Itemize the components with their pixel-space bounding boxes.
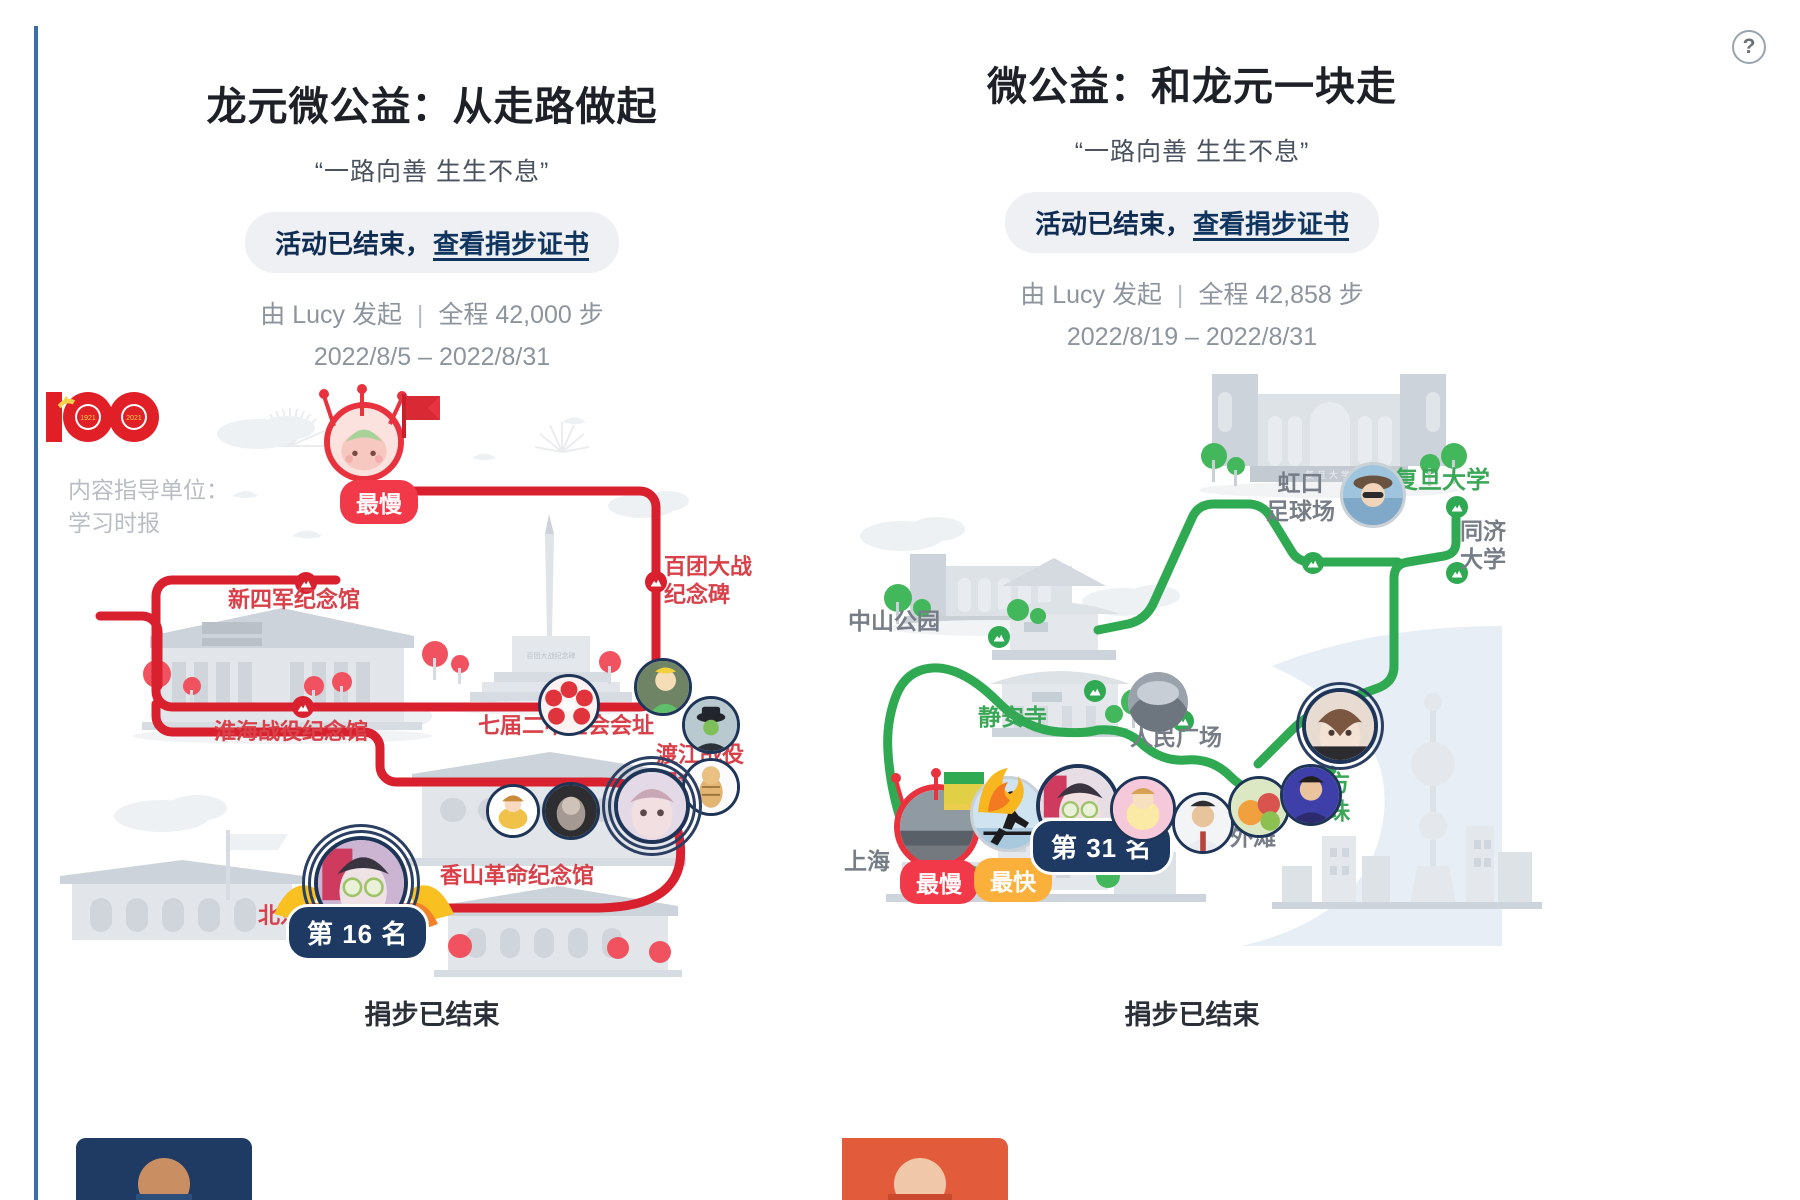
rank-badge: 第 16 名 <box>286 904 429 961</box>
avatar-fudan-participant[interactable] <box>1340 462 1406 528</box>
pearl-avatar-ring <box>1296 682 1384 770</box>
help-circle-icon[interactable]: ? <box>1732 30 1766 64</box>
page-subtitle-right: “一路向善 生生不息” <box>842 132 1542 168</box>
footer-note-right: 捐步已结束 <box>842 993 1542 1032</box>
left-accent-rail <box>34 26 38 1200</box>
avatar-participant-r1[interactable] <box>1110 776 1176 842</box>
svg-text:1921: 1921 <box>80 415 96 422</box>
avatar-participant-1[interactable] <box>634 658 692 716</box>
distance-text: 全程 42,000 步 <box>438 301 603 329</box>
route-map-left[interactable]: 百团大战纪念碑 <box>42 386 822 986</box>
footer-thumbnail-left[interactable] <box>76 1138 252 1200</box>
status-text-right: 活动已结束， <box>1035 204 1191 241</box>
avatar-renmin-participant[interactable] <box>1128 672 1188 732</box>
landmark-label-huaihai: 淮海战役纪念馆 <box>214 714 368 746</box>
campaign-dates: 2022/8/5 – 2022/8/31 <box>42 343 822 372</box>
route-node-jingansi[interactable] <box>1084 680 1106 702</box>
page-subtitle: “一路向善 生生不息” <box>42 152 822 188</box>
avatar-participant-2[interactable] <box>682 696 740 754</box>
landmark-label-hongkou: 虹口足球场 <box>1266 470 1335 526</box>
route-node-zhongshan-park[interactable] <box>988 626 1010 648</box>
guidance-line-1: 内容指导单位： <box>68 474 229 507</box>
page-title-right: 微公益：和龙元一块走 <box>842 54 1542 112</box>
cpc-100th-anniversary-logo: 1921 2021 <box>42 386 162 448</box>
avatar-participant-4[interactable] <box>486 784 540 838</box>
campaign-meta: 由 Lucy 发起 | 全程 42,000 步 <box>42 295 822 331</box>
campaign-meta-right: 由 Lucy 发起 | 全程 42,858 步 <box>842 275 1542 311</box>
distance-text-right: 全程 42,858 步 <box>1198 281 1363 309</box>
flower-icon <box>541 677 597 733</box>
avatar-participant-r4[interactable] <box>1280 764 1342 826</box>
card-separator <box>826 26 836 1200</box>
landmark-label-fudan: 复旦大学 <box>1394 460 1490 495</box>
landmark-label-zhongshan-park: 中山公园 <box>848 602 940 636</box>
content-guidance-unit: 内容指导单位： 学习时报 <box>68 474 229 541</box>
guidance-line-2: 学习时报 <box>68 507 229 540</box>
campaign-card-left: 龙元微公益：从走路做起 “一路向善 生生不息” 活动已结束， 查看捐步证书 由 … <box>42 26 822 1200</box>
meta-separator-right: | <box>1177 281 1184 309</box>
footer-note-left: 捐步已结束 <box>42 993 822 1032</box>
view-certificate-link-right[interactable]: 查看捐步证书 <box>1193 204 1349 241</box>
window-top-strip <box>0 0 1800 26</box>
campaign-dates-right: 2022/8/19 – 2022/8/31 <box>842 323 1542 352</box>
slowest-crown-flag-decoration <box>312 384 442 454</box>
tag-slowest: 最慢 <box>340 480 418 524</box>
svg-text:2021: 2021 <box>126 415 142 422</box>
landmark-label-xinsijun: 新四军纪念馆 <box>228 582 360 614</box>
status-row-right: 活动已结束， 查看捐步证书 <box>842 192 1542 253</box>
emblem-flower-node[interactable] <box>538 674 600 736</box>
meta-separator: | <box>417 301 424 329</box>
status-row: 活动已结束， 查看捐步证书 <box>42 212 822 273</box>
status-badge: 活动已结束， 查看捐步证书 <box>245 212 619 273</box>
campaign-card-right: 微公益：和龙元一块走 “一路向善 生生不息” 活动已结束， 查看捐步证书 由 L… <box>842 26 1542 1200</box>
initiator-text: 由 Lucy 发起 <box>260 301 402 329</box>
route-map-right[interactable]: 复旦大学 <box>842 366 1542 966</box>
app-page: ? 龙元微公益：从走路做起 “一路向善 生生不息” 活动已结束， 查看捐步证书 … <box>0 0 1800 1200</box>
page-title: 龙元微公益：从走路做起 <box>42 74 822 132</box>
window-right-strip <box>1784 0 1800 1200</box>
route-node-hongkou[interactable] <box>1302 552 1324 574</box>
status-text: 活动已结束， <box>275 224 431 261</box>
status-badge-right: 活动已结束， 查看捐步证书 <box>1005 192 1379 253</box>
landmark-label-shanghai: 上海 <box>844 842 890 876</box>
route-node-fudan[interactable] <box>1446 496 1468 518</box>
initiator-text-right: 由 Lucy 发起 <box>1020 281 1162 309</box>
footer-thumbnail-right[interactable] <box>842 1138 1008 1200</box>
view-certificate-link[interactable]: 查看捐步证书 <box>433 224 589 261</box>
landmark-label-tongji: 同济大学 <box>1460 518 1506 574</box>
tag-slowest-right: 最慢 <box>900 860 978 904</box>
landmark-label-baituan: 百团大战纪念碑 <box>664 554 752 609</box>
avatar-ring-outer-2 <box>602 756 702 856</box>
avatar-participant-r2[interactable] <box>1172 792 1234 854</box>
landmark-label-jingansi: 静安寺 <box>978 698 1047 732</box>
avatar-participant-5[interactable] <box>542 782 600 840</box>
